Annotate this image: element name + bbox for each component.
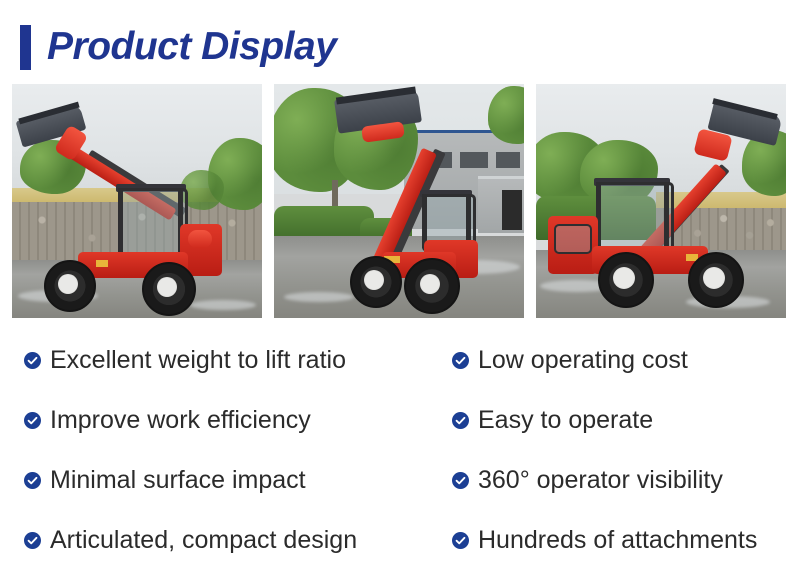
feature-column-left: Excellent weight to lift ratio Improve w… [24,330,444,570]
product-image-gallery [0,84,800,318]
feature-label: Low operating cost [478,345,688,375]
product-photo-3[interactable] [536,84,786,318]
feature-item: Hundreds of attachments [452,510,796,570]
feature-item: Articulated, compact design [24,510,444,570]
feature-item: Low operating cost [452,330,796,390]
feature-item: Easy to operate [452,390,796,450]
feature-item: 360° operator visibility [452,450,796,510]
feature-label: Improve work efficiency [50,405,311,435]
feature-label: Articulated, compact design [50,525,357,555]
check-circle-icon [24,532,41,549]
product-photo-1[interactable] [12,84,262,318]
check-circle-icon [452,412,469,429]
feature-label: Minimal surface impact [50,465,306,495]
feature-list: Excellent weight to lift ratio Improve w… [0,330,800,574]
check-circle-icon [24,412,41,429]
feature-column-right: Low operating cost Easy to operate 360° … [452,330,796,570]
feature-label: Excellent weight to lift ratio [50,345,346,375]
feature-label: Easy to operate [478,405,653,435]
feature-label: Hundreds of attachments [478,525,757,555]
feature-label: 360° operator visibility [478,465,723,495]
check-circle-icon [452,352,469,369]
check-circle-icon [452,472,469,489]
check-circle-icon [24,352,41,369]
page-header: Product Display [0,0,800,84]
feature-item: Excellent weight to lift ratio [24,330,444,390]
product-photo-2[interactable] [274,84,524,318]
feature-item: Improve work efficiency [24,390,444,450]
check-circle-icon [24,472,41,489]
title-accent-bar [20,25,31,70]
check-circle-icon [452,532,469,549]
feature-item: Minimal surface impact [24,450,444,510]
page-title: Product Display [47,23,336,71]
